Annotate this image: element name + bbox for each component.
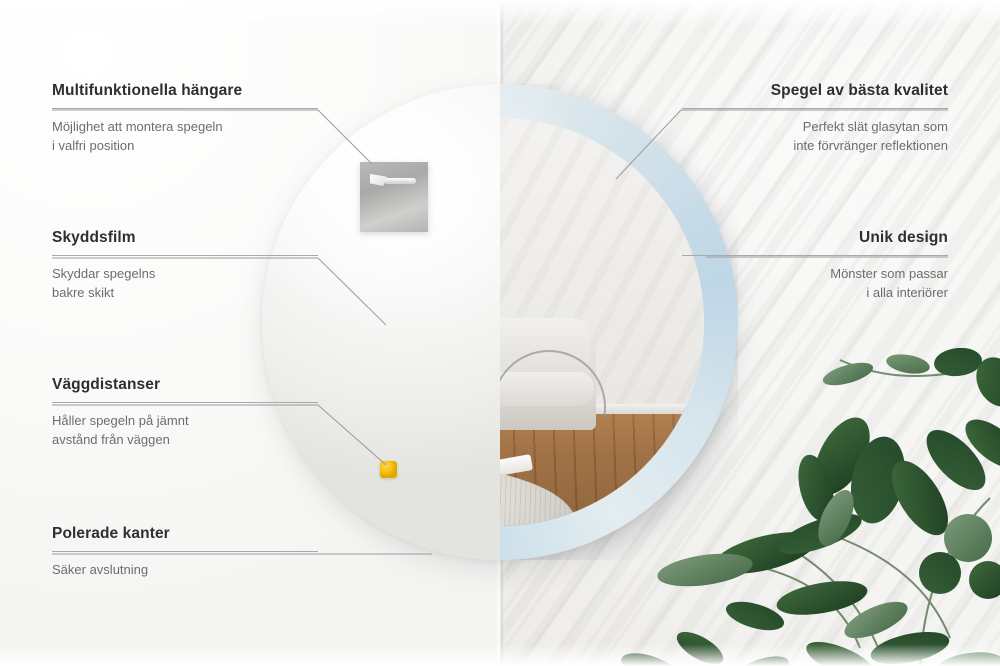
callout-description: Skyddar spegelns bakre skikt bbox=[52, 265, 318, 303]
callout-multifunktionella-hangare: Multifunktionella hängare Möjlighet att … bbox=[52, 82, 318, 156]
callout-title: Spegel av bästa kvalitet bbox=[682, 82, 948, 99]
callout-description: Håller spegeln på jämnt avstånd från väg… bbox=[52, 412, 318, 450]
callout-rule bbox=[52, 551, 318, 552]
callout-vaggdistanser: Väggdistanser Håller spegeln på jämnt av… bbox=[52, 376, 318, 450]
callout-rule bbox=[52, 108, 318, 109]
callout-rule bbox=[682, 108, 948, 109]
callout-title: Multifunktionella hängare bbox=[52, 82, 318, 99]
callout-description: Säker avslutning bbox=[52, 561, 318, 580]
infographic-canvas: Multifunktionella hängare Möjlighet att … bbox=[0, 0, 1000, 666]
callout-title: Polerade kanter bbox=[52, 525, 318, 542]
callout-spegel-av-basta-kvalitet: Spegel av bästa kvalitet Perfekt slät gl… bbox=[682, 82, 948, 156]
callout-skyddsfilm: Skyddsfilm Skyddar spegelns bakre skikt bbox=[52, 229, 318, 303]
callout-description: Möjlighet att montera spegeln i valfri p… bbox=[52, 118, 318, 156]
callout-title: Unik design bbox=[682, 229, 948, 246]
callout-description: Perfekt slät glasytan som inte förvränge… bbox=[682, 118, 948, 156]
callout-polerade-kanter: Polerade kanter Säker avslutning bbox=[52, 525, 318, 580]
foliage-decoration bbox=[590, 348, 1000, 666]
callout-description: Mönster som passar i alla interiörer bbox=[682, 265, 948, 303]
callout-unik-design: Unik design Mönster som passar i alla in… bbox=[682, 229, 948, 303]
callout-title: Skyddsfilm bbox=[52, 229, 318, 246]
callout-rule bbox=[682, 255, 948, 256]
callout-title: Väggdistanser bbox=[52, 376, 318, 393]
callout-rule bbox=[52, 255, 318, 256]
callout-rule bbox=[52, 402, 318, 403]
